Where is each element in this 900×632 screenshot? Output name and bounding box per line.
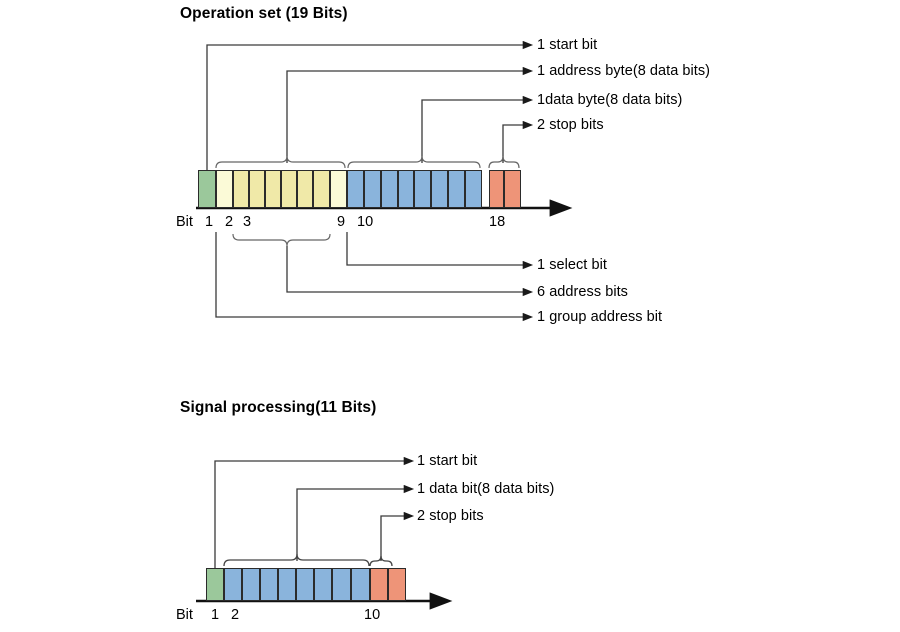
- callout-select-bit: 1 select bit: [537, 257, 607, 273]
- bit-cell-2-data-8: [332, 568, 351, 601]
- bit-cell-2-data-3: [242, 568, 260, 601]
- callout-stop-bits-2: 2 stop bits: [417, 508, 484, 524]
- bit-cell-2-data-9: [351, 568, 370, 601]
- callout-start-bit-1: 1 start bit: [537, 37, 597, 53]
- braces-above-2: [224, 554, 392, 566]
- bit-cell-data-17: [465, 170, 482, 208]
- callout-address-bits: 6 address bits: [537, 284, 628, 300]
- callout-start-bit-2: 1 start bit: [417, 453, 477, 469]
- callout-group-address-bit: 1 group address bit: [537, 309, 662, 325]
- callout-address-byte-1: 1 address byte(8 data bits): [537, 63, 710, 79]
- axis-tick-1-3: 3: [243, 214, 251, 230]
- bit-cell-data-13: [398, 170, 414, 208]
- callout-data-byte-1: 1data byte(8 data bits): [537, 92, 682, 108]
- axis-tick-1-10: 10: [357, 214, 373, 230]
- callout-stop-bits-1: 2 stop bits: [537, 117, 604, 133]
- bit-cell-2-data-7: [314, 568, 332, 601]
- axis-tick-1-9: 9: [337, 214, 345, 230]
- bit-cell-data-15: [431, 170, 448, 208]
- leaders-above-1: [207, 45, 524, 170]
- axis-tick-2-10: 10: [364, 607, 380, 623]
- axis-prefix-1: Bit: [176, 214, 193, 230]
- bit-cell-address-4: [249, 170, 265, 208]
- bit-cell-data-16: [448, 170, 465, 208]
- bit-cell-data-12: [381, 170, 398, 208]
- bit-cell-2-stop-10: [370, 568, 388, 601]
- bit-cell-2-data-6: [296, 568, 314, 601]
- bit-cell-address-6: [281, 170, 297, 208]
- axis-tick-1-18: 18: [489, 214, 505, 230]
- bit-cell-address-5: [265, 170, 281, 208]
- leaders-below-1: [216, 232, 524, 317]
- figure-canvas: Operation set (19 Bits) Signal processin…: [0, 0, 900, 632]
- bit-cell-2-data-5: [278, 568, 296, 601]
- axis-prefix-2: Bit: [176, 607, 193, 623]
- bit-cell-stop-18: [489, 170, 504, 208]
- braces-below-1: [233, 234, 330, 246]
- callout-data-byte-2: 1 data bit(8 data bits): [417, 481, 554, 497]
- vector-layer: [0, 0, 900, 632]
- bit-cell-address-2: [216, 170, 233, 208]
- bit-cell-address-7: [297, 170, 313, 208]
- bit-cell-stop-19: [504, 170, 521, 208]
- bit-cell-address-3: [233, 170, 249, 208]
- bit-cell-address-8: [313, 170, 330, 208]
- axis-tick-2-1: 1: [211, 607, 219, 623]
- bit-cell-2-stop-11: [388, 568, 406, 601]
- bit-cell-data-11: [364, 170, 381, 208]
- bit-cell-address-9: [330, 170, 347, 208]
- bit-cell-data-10: [347, 170, 364, 208]
- bit-cell-2-data-4: [260, 568, 278, 601]
- bit-cell-2-start-1: [206, 568, 224, 601]
- axis-tick-2-2: 2: [231, 607, 239, 623]
- axis-tick-1-2: 2: [225, 214, 233, 230]
- bit-cell-start-1: [198, 170, 216, 208]
- braces-above-1: [216, 156, 519, 168]
- leaders-above-2: [215, 461, 405, 568]
- bit-cell-data-14: [414, 170, 431, 208]
- bit-cell-2-data-2: [224, 568, 242, 601]
- axis-tick-1-1: 1: [205, 214, 213, 230]
